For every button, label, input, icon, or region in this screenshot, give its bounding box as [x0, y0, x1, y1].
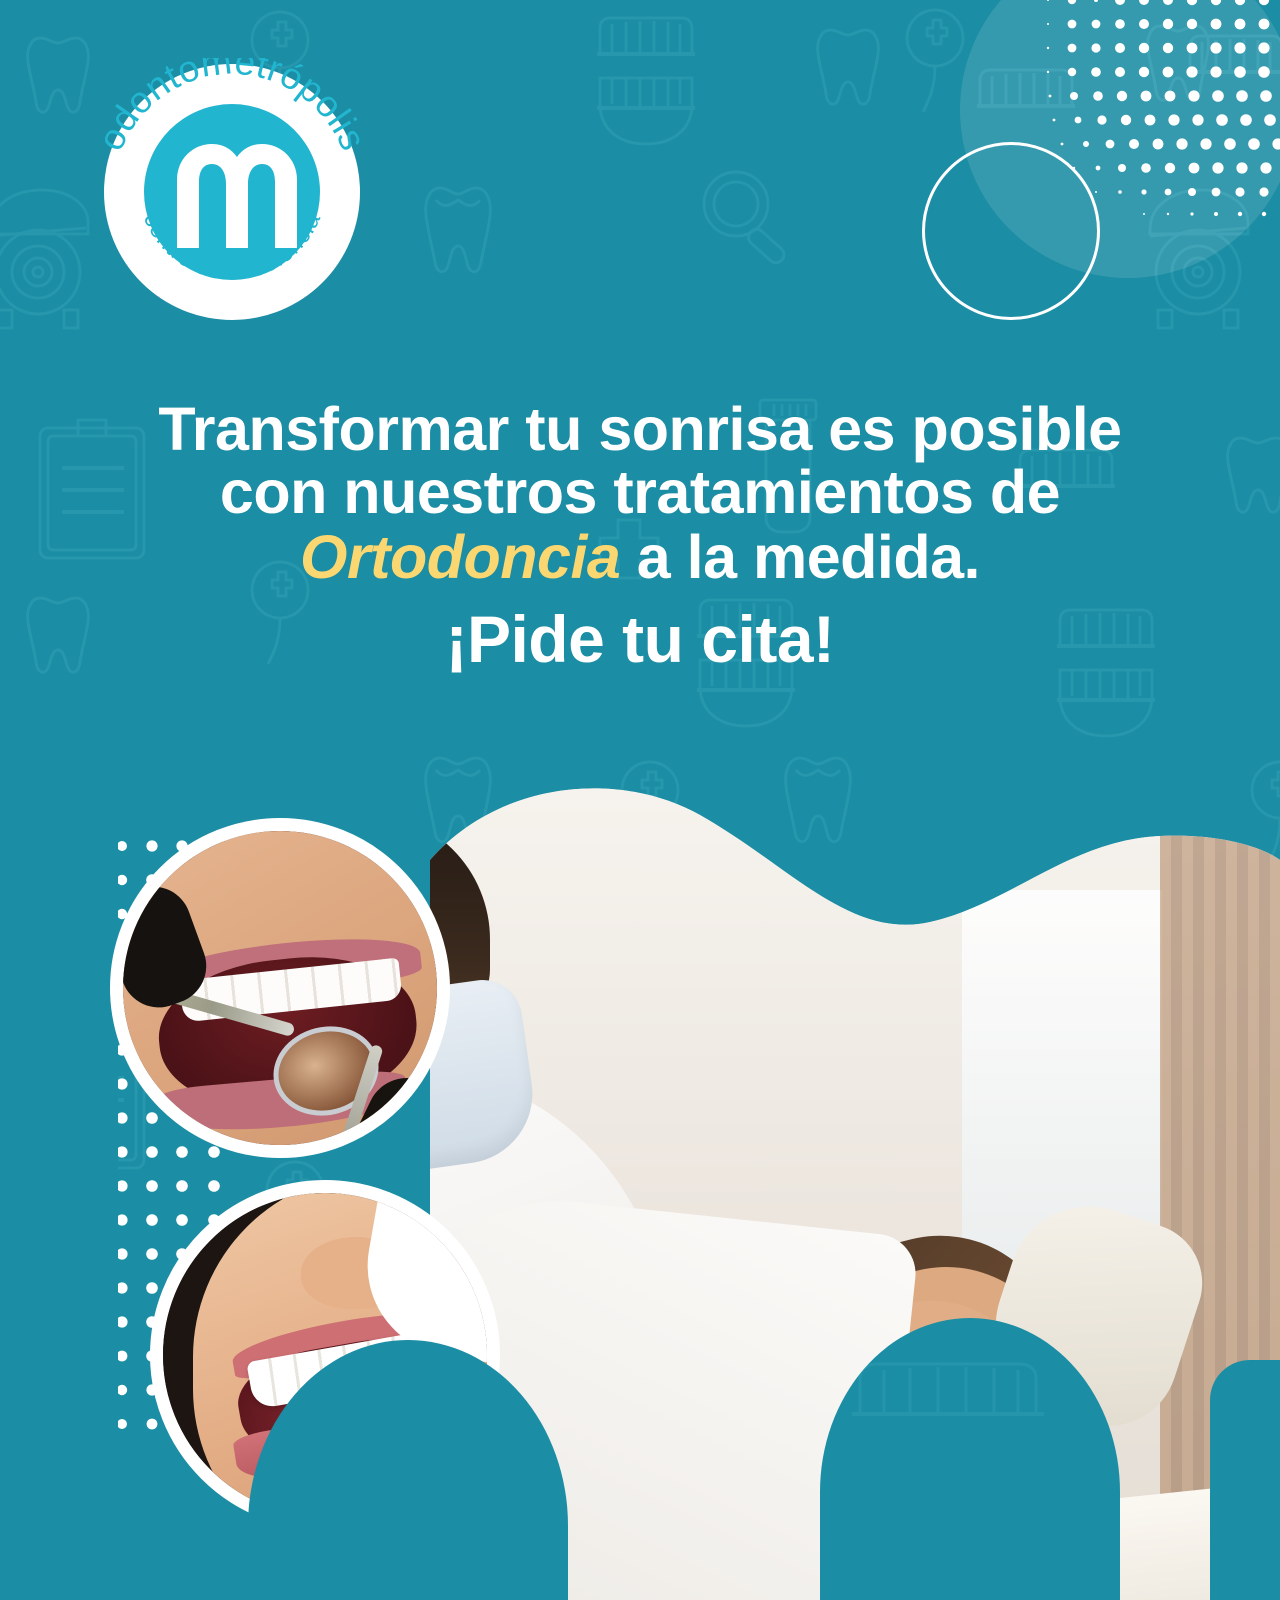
headline-line-3: Ortodoncia a la medida. [0, 526, 1280, 589]
brand-logo[interactable]: odontometrópolis centro de excelencia [82, 58, 382, 326]
headline-accent-ortodoncia: Ortodoncia [300, 523, 620, 591]
logo-monogram-m [177, 144, 297, 248]
decorative-outline-ring [922, 142, 1100, 320]
headline-line-3-suffix: a la medida. [620, 523, 980, 591]
denture-upper-icon [852, 1364, 1044, 1414]
headline-cta: ¡Pide tu cita! [0, 605, 1280, 673]
headline-line-2: con nuestros tratamientos de [0, 461, 1280, 524]
headline-line-1: Transformar tu sonrisa es posible [0, 398, 1280, 461]
circle-photo-oral-exam [110, 818, 450, 1158]
promo-poster: odontometrópolis centro de excelencia Tr… [0, 0, 1280, 1600]
right-teal-panel [1210, 1360, 1280, 1600]
headline-block: Transformar tu sonrisa es posible con nu… [0, 398, 1280, 674]
photo-collage [0, 740, 1280, 1600]
left-teal-panel [0, 740, 118, 1600]
